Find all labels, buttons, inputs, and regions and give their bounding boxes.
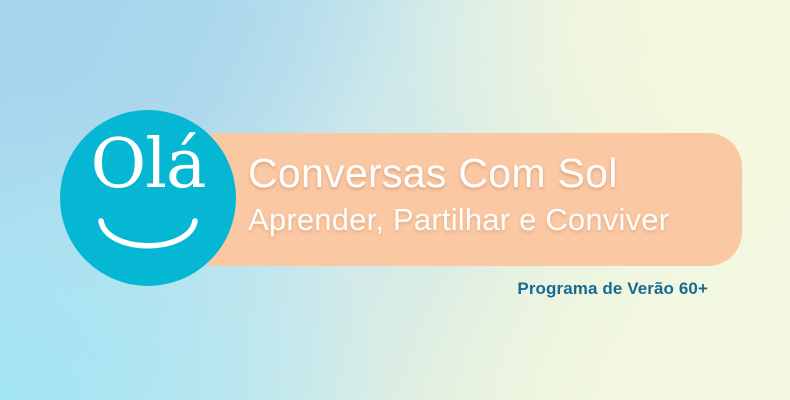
program-tagline: Programa de Verão 60+ bbox=[0, 278, 708, 300]
logo-wordmark-text: Olá bbox=[60, 131, 236, 199]
ola-logo-circle: Olá bbox=[60, 110, 236, 286]
headline-block: Conversas Com Sol Aprender, Partilhar e … bbox=[248, 150, 718, 238]
smile-arc-icon bbox=[98, 218, 198, 264]
promotional-banner: Olá Conversas Com Sol Aprender, Partilha… bbox=[0, 0, 790, 400]
banner-subtitle: Aprender, Partilhar e Conviver bbox=[248, 202, 718, 238]
banner-title: Conversas Com Sol bbox=[248, 150, 718, 196]
